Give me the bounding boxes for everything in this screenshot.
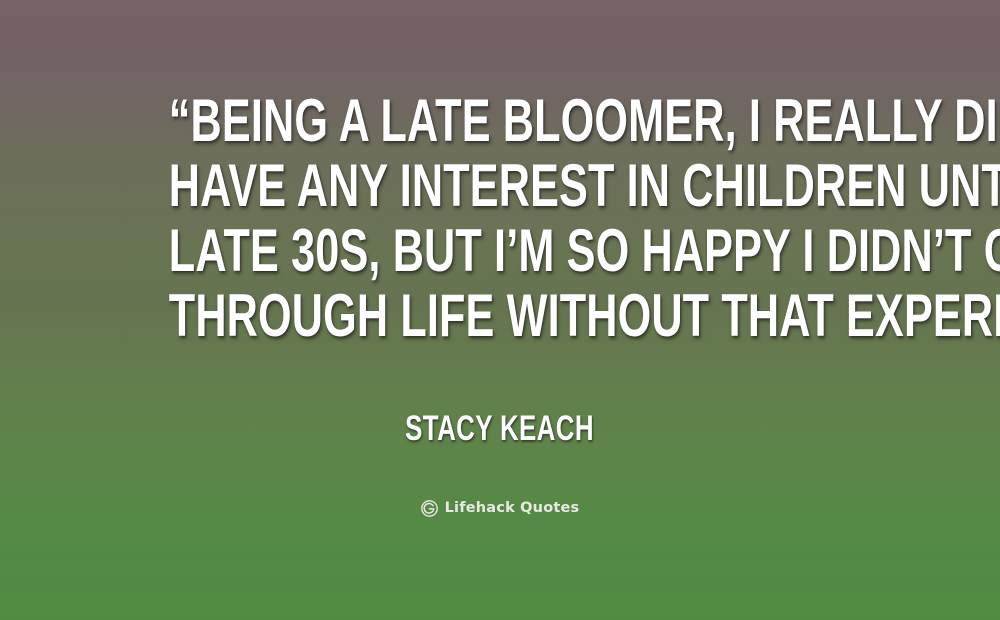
quote-author: STACY KEACH [0, 410, 1000, 448]
quote-line-3: LATE 30S, BUT I’M SO HAPPY I DIDN’T GO [169, 218, 831, 283]
author-name: STACY KEACH [406, 410, 595, 448]
quote-line-1: “BEING A LATE BLOOMER, I REALLY DIDN’T [169, 88, 831, 153]
quote-line-4: THROUGH LIFE WITHOUT THAT EXPERIENCE.” [169, 283, 831, 348]
quote-text-block: “BEING A LATE BLOOMER, I REALLY DIDN’T H… [0, 88, 1000, 348]
quote-line-2: HAVE ANY INTEREST IN CHILDREN UNTIL MY [169, 153, 831, 218]
lifehack-circle-logo-icon [421, 500, 438, 517]
brand-footer: Lifehack Quotes [0, 500, 1000, 517]
quote-image-card: “BEING A LATE BLOOMER, I REALLY DIDN’T H… [0, 0, 1000, 620]
brand-name: Lifehack Quotes [445, 500, 580, 517]
